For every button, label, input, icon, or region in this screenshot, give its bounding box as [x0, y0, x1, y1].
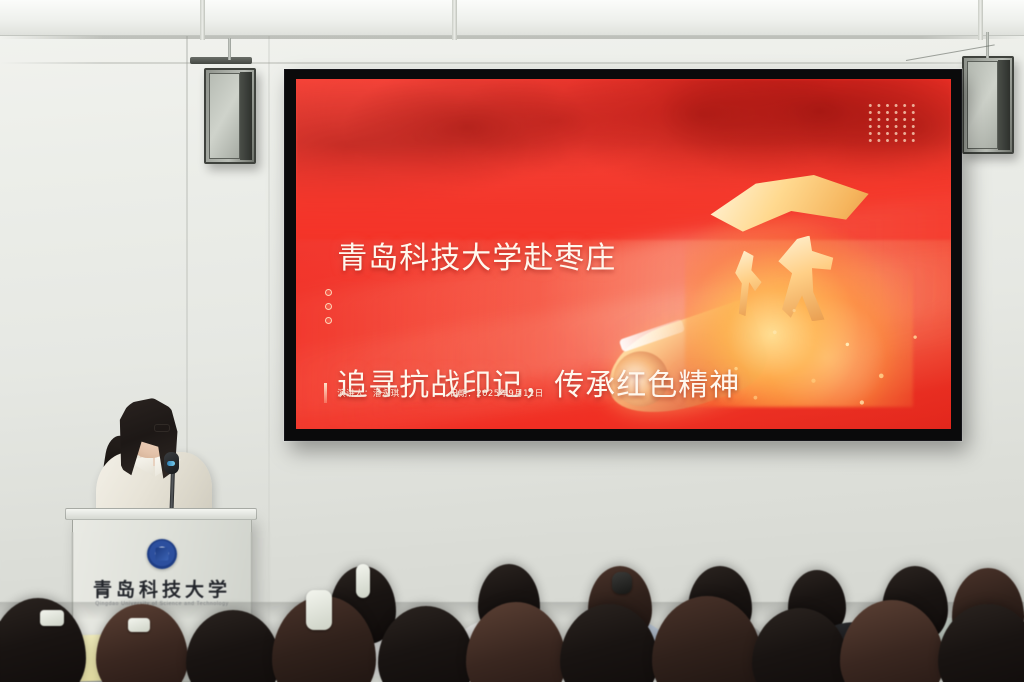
- wall-speaker-right: [962, 56, 1014, 154]
- hair-tie-icon: [612, 572, 632, 594]
- presenter-label: 演讲人：: [337, 389, 373, 399]
- microphone-icon: [164, 452, 179, 474]
- ceiling-pipe-right: [978, 0, 983, 40]
- wall-seam-upper: [0, 36, 1024, 39]
- speaker-side-panel: [240, 72, 252, 160]
- date-value: 2025年9月12日: [476, 389, 543, 399]
- hair-clip-icon: [40, 610, 64, 626]
- bullet-dots-ornament: [325, 289, 332, 324]
- ceiling-pipe-center: [452, 0, 457, 40]
- presenter-name: 潘永琪: [373, 389, 400, 399]
- podium-top-lip: [65, 508, 257, 520]
- date-meta: 日期：2025年9月12日: [450, 387, 544, 399]
- wall-seam-lower: [0, 62, 1024, 64]
- meta-accent-bar: [324, 383, 327, 403]
- speaker-bracket-left: [190, 57, 252, 64]
- dot-matrix-ornament: [866, 102, 918, 144]
- speaker-hanger-left: [228, 38, 231, 60]
- bullet-dot-icon: [325, 317, 332, 324]
- speaker-grille-icon: [209, 73, 240, 159]
- speaker-side-panel: [998, 60, 1010, 150]
- wall-speaker-left: [204, 68, 256, 164]
- bullet-dot-icon: [325, 303, 332, 310]
- lecture-hall-photo: 青岛科技大学赴枣庄 追寻抗战印记，传承红色精神 爱国主义教育实践团 演讲人：潘永…: [0, 0, 1024, 682]
- slide-footer-meta: 演讲人：潘永琪 日期：2025年9月12日: [337, 387, 543, 399]
- hair-clip-icon: [306, 590, 332, 630]
- date-label: 日期：: [450, 389, 477, 399]
- hair-clip-icon: [128, 618, 150, 632]
- hair-clip-icon: [356, 564, 370, 598]
- slide-title-line-1: 青岛科技大学赴枣庄: [337, 238, 887, 281]
- speaker-grille-icon: [967, 61, 998, 149]
- ceiling-rail: [0, 0, 1024, 36]
- presentation-slide: 青岛科技大学赴枣庄 追寻抗战印记，传承红色精神 爱国主义教育实践团 演讲人：潘永…: [296, 79, 951, 429]
- audience: HOTSL: [0, 522, 1024, 682]
- presenter-glasses-icon: [154, 424, 170, 432]
- presenter-meta: 演讲人：潘永琪: [337, 387, 399, 399]
- projection-screen[interactable]: 青岛科技大学赴枣庄 追寻抗战印记，传承红色精神 爱国主义教育实践团 演讲人：潘永…: [284, 69, 962, 441]
- ceiling-pipe-left: [200, 0, 205, 40]
- audience-head-front: [186, 610, 280, 682]
- bullet-dot-icon: [325, 289, 332, 296]
